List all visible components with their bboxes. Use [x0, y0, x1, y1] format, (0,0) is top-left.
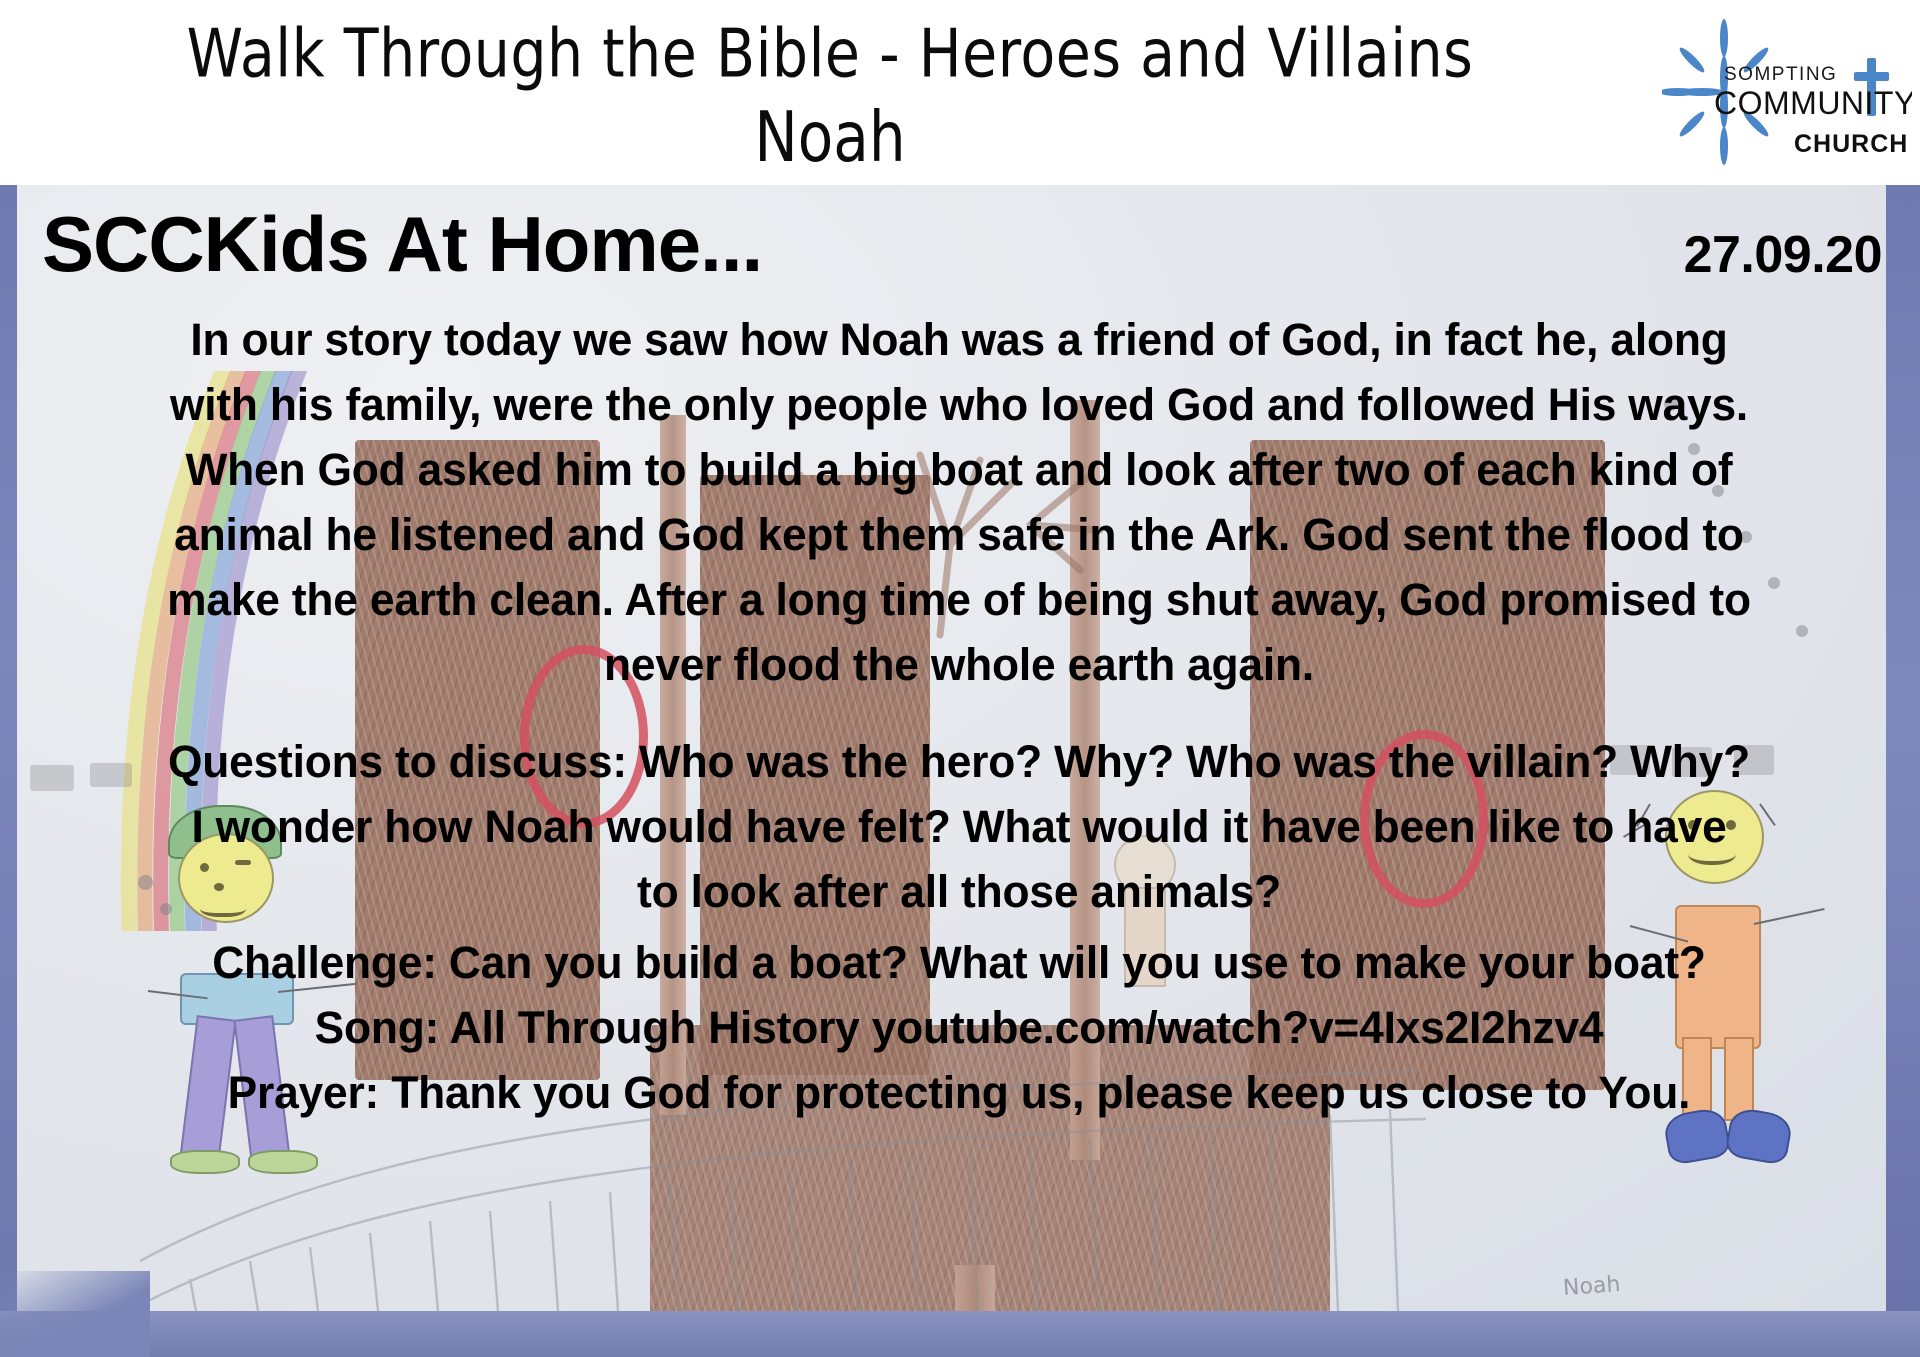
questions-line: to look after all those animals? — [38, 859, 1880, 924]
lesson-body: In our story today we saw how Noah was a… — [24, 307, 1894, 1125]
story-line: with his family, were the only people wh… — [38, 372, 1880, 437]
song-line: Song: All Through History youtube.com/wa… — [38, 995, 1880, 1060]
story-line: animal he listened and God kept them saf… — [38, 502, 1880, 567]
story-line: When God asked him to build a big boat a… — [38, 437, 1880, 502]
series-title: Walk Through the Bible - Heroes and Vill… — [0, 21, 1660, 88]
scckids-headline: SCCKids At Home... — [42, 205, 762, 283]
lesson-date: 27.09.20 — [1684, 229, 1882, 281]
story-line: never flood the whole earth again. — [38, 632, 1880, 697]
logo-sompting-text: SOMPTING — [1724, 64, 1837, 85]
challenge-line: Challenge: Can you build a boat? What wi… — [38, 930, 1880, 995]
story-line: make the earth clean. After a long time … — [38, 567, 1880, 632]
church-logo-graphic: SOMPTING COMMUNITY CHURCH — [1662, 18, 1912, 168]
story-line: In our story today we saw how Noah was a… — [38, 307, 1880, 372]
lesson-photo-panel: Noah SCCKids At Home... 27.09.20 In our … — [0, 185, 1920, 1357]
header-titles: Walk Through the Bible - Heroes and Vill… — [0, 0, 1660, 160]
page-header: Walk Through the Bible - Heroes and Vill… — [0, 0, 1920, 185]
questions-line: Questions to discuss: Who was the hero? … — [38, 729, 1880, 794]
story-paragraph: In our story today we saw how Noah was a… — [38, 307, 1880, 697]
questions-paragraph: Questions to discuss: Who was the hero? … — [38, 729, 1880, 924]
challenge-paragraph: Challenge: Can you build a boat? What wi… — [38, 930, 1880, 1125]
headline-row: SCCKids At Home... 27.09.20 — [42, 205, 1882, 283]
lesson-title: Noah — [0, 102, 1660, 172]
logo-church-text: CHURCH — [1794, 130, 1908, 158]
text-overlay: SCCKids At Home... 27.09.20 In our story… — [0, 185, 1920, 1357]
questions-line: I wonder how Noah would have felt? What … — [38, 794, 1880, 859]
church-logo: SOMPTING COMMUNITY CHURCH — [1662, 18, 1912, 168]
logo-community-text: COMMUNITY — [1714, 85, 1912, 121]
prayer-line: Prayer: Thank you God for protecting us,… — [38, 1060, 1880, 1125]
